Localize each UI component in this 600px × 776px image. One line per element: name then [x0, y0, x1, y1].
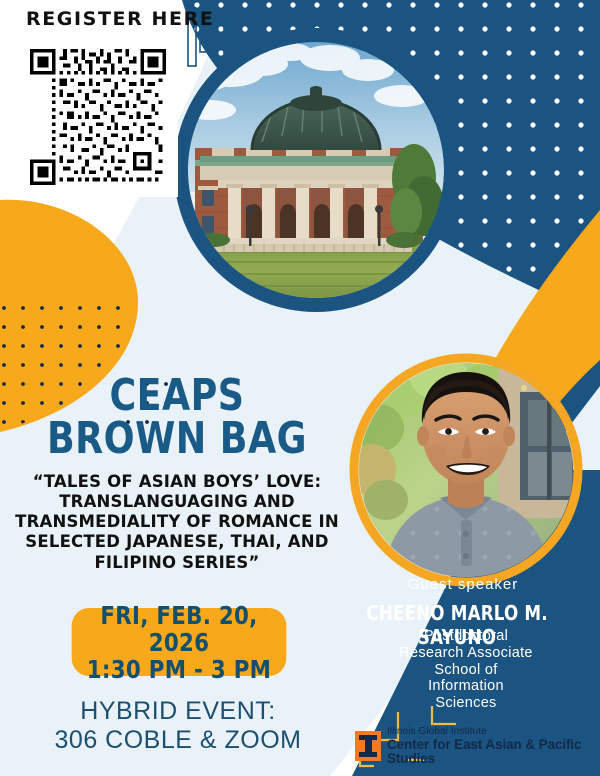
talk-title: “TALES OF ASIAN BOYS’ LOVE: TRANSLANGUAG…	[10, 472, 344, 573]
speaker-affiliation-line: Postdoctoral	[356, 628, 576, 645]
illinois-block-i-icon	[355, 731, 381, 761]
event-date: FRI, FEB. 20, 2026	[72, 602, 287, 656]
logo-line-2: Center for East Asian & Pacific Studies	[387, 738, 600, 766]
speaker-affiliation: Postdoctoral Research Associate School o…	[356, 628, 576, 712]
title-line-2: BROWN BAG	[22, 418, 333, 461]
logo-line-1: Illinois Global Institute	[387, 727, 600, 738]
speaker-affiliation-line: Research Associate	[356, 645, 576, 662]
register-here-label: REGISTER HERE	[26, 8, 214, 30]
date-time-badge: FRI, FEB. 20, 2026 1:30 PM - 3 PM	[72, 608, 287, 676]
speaker-affiliation-line: Sciences	[356, 695, 576, 712]
guest-speaker-label: Guest speaker	[348, 576, 578, 593]
page-title: CEAPS BROWN BAG	[22, 375, 333, 460]
speaker-affiliation-line: School of	[356, 662, 576, 679]
event-location-line-2: 306 COBLE & ZOOM	[6, 726, 350, 755]
logo-text: Illinois Global Institute Center for Eas…	[387, 727, 600, 766]
event-time: 1:30 PM - 3 PM	[87, 656, 271, 683]
event-location: HYBRID EVENT: 306 COBLE & ZOOM	[6, 697, 350, 754]
speaker-affiliation-line: Information	[356, 678, 576, 695]
event-location-line-1: HYBRID EVENT:	[6, 697, 350, 726]
qr-code[interactable]	[26, 45, 178, 197]
event-flyer: REGISTER HERE	[0, 0, 600, 776]
institution-logo: Illinois Global Institute Center for Eas…	[355, 727, 600, 766]
